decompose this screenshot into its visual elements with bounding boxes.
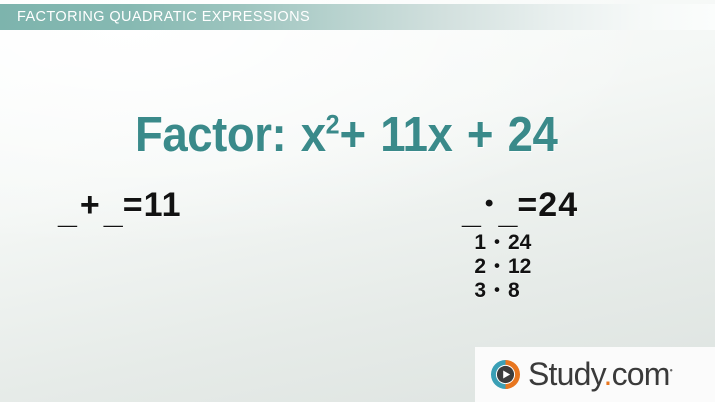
product-equation: _•_=24 [462,186,578,225]
multiply-dot-icon: • [486,257,508,276]
logo-trademark: • [670,365,673,375]
sum-equals-sign: = [123,186,144,224]
study-com-logo[interactable]: Study.com• [475,347,715,402]
factor-pair-right: 24 [508,231,531,255]
sum-result: 11 [144,186,182,224]
problem-label: Factor: [135,108,286,162]
sum-blank-2[interactable]: _ [104,193,123,232]
slide-canvas: FACTORING QUADRATIC EXPRESSIONS Factor: … [0,0,715,402]
problem-operator-1: + [340,108,366,162]
factor-pair-left: 2 [462,255,486,279]
play-circle-icon [489,358,522,391]
factor-pair-row: 1 • 24 [462,231,531,255]
factor-pair-right: 8 [508,279,520,303]
sum-operator: + [77,186,104,224]
factor-pair-row: 3 • 8 [462,279,531,303]
logo-dot: . [603,356,611,392]
product-result: 24 [538,186,578,224]
factor-pair-right: 12 [508,255,531,279]
problem-statement: Factor: x2+ 11x + 24 [135,107,557,163]
sum-blank-1[interactable]: _ [58,193,77,232]
problem-exponent: 2 [326,110,340,140]
lesson-title: FACTORING QUADRATIC EXPRESSIONS [17,9,310,25]
factor-pair-left: 1 [462,231,486,255]
product-equals-sign: = [517,186,538,224]
problem-operator-2: + [467,108,493,162]
problem-linear-term: 11x [380,108,452,162]
problem-constant: 24 [508,108,558,162]
product-operator: • [481,190,499,217]
factor-pair-row: 2 • 12 [462,255,531,279]
product-blank-2[interactable]: _ [499,193,518,232]
problem-variable: x [301,108,326,162]
factor-pair-left: 3 [462,279,486,303]
logo-wordmark: Study.com• [528,356,673,393]
multiply-dot-icon: • [486,233,508,252]
multiply-dot-icon: • [486,281,508,300]
logo-word: Study [528,356,603,392]
factor-pair-list: 1 • 24 2 • 12 3 • 8 [462,231,531,303]
header-bar: FACTORING QUADRATIC EXPRESSIONS [0,4,715,30]
product-blank-1[interactable]: _ [462,193,481,232]
sum-equation: _+_=11 [58,186,182,225]
logo-tld: com [612,356,670,392]
